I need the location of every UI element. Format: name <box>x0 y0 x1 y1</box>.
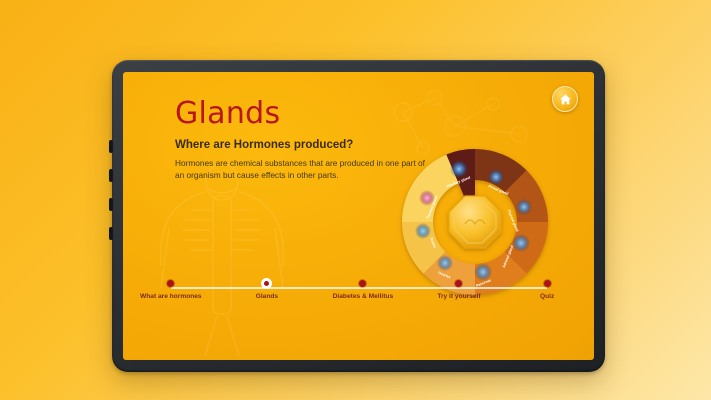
tablet-device: Glands Where are Hormones produced? Horm… <box>112 60 605 372</box>
timeline-step-label: Quiz <box>515 293 579 302</box>
pineal-icon <box>488 169 504 185</box>
thyroid-icon <box>516 199 532 215</box>
timeline-dot <box>455 280 462 287</box>
volume-down-button[interactable] <box>109 198 113 211</box>
device-side-buttons[interactable] <box>109 140 114 256</box>
timeline-step-diabetes-mellitus[interactable]: Diabetes & Mellitus <box>331 280 395 302</box>
timeline-dot <box>167 280 174 287</box>
home-button[interactable] <box>552 86 578 112</box>
tablet-screen: Glands Where are Hormones produced? Horm… <box>123 72 594 360</box>
power-button[interactable] <box>109 140 113 153</box>
timeline-step-quiz[interactable]: Quiz <box>515 280 579 302</box>
home-icon <box>559 93 572 106</box>
slide-subtitle: Where are Hormones produced? <box>175 139 353 151</box>
timeline-step-label: What are hormones <box>139 293 203 302</box>
timeline-step-label: Diabetes & Mellitus <box>331 293 395 302</box>
timeline-step-glands[interactable]: Glands <box>235 280 299 302</box>
volume-up-button[interactable] <box>109 169 113 182</box>
timeline-step-what-are-hormones[interactable]: What are hormones <box>139 280 203 302</box>
pituitary-icon <box>450 160 468 178</box>
glands-wheel-diagram[interactable]: Pituitary gland Pineal gland Thyroid gla… <box>399 146 551 298</box>
timeline-step-label: Glands <box>235 293 299 302</box>
timeline-step-label: Try it yourself <box>427 293 491 302</box>
timeline-dot <box>359 280 366 287</box>
slide-body-text: Hormones are chemical substances that ar… <box>175 157 425 182</box>
page-title: Glands <box>175 96 280 131</box>
timeline-dot-active <box>261 278 272 289</box>
ovaries-icon <box>437 255 453 271</box>
timeline-step-try-it-yourself[interactable]: Try it yourself <box>427 280 491 302</box>
testes-icon <box>415 223 431 239</box>
timeline-dot <box>544 280 551 287</box>
lesson-timeline[interactable]: What are hormones Glands Diabetes & Mell… <box>163 280 555 334</box>
extra-button[interactable] <box>109 227 113 240</box>
adrenal-icon <box>512 234 530 252</box>
wheel-center-hub[interactable] <box>449 196 501 248</box>
